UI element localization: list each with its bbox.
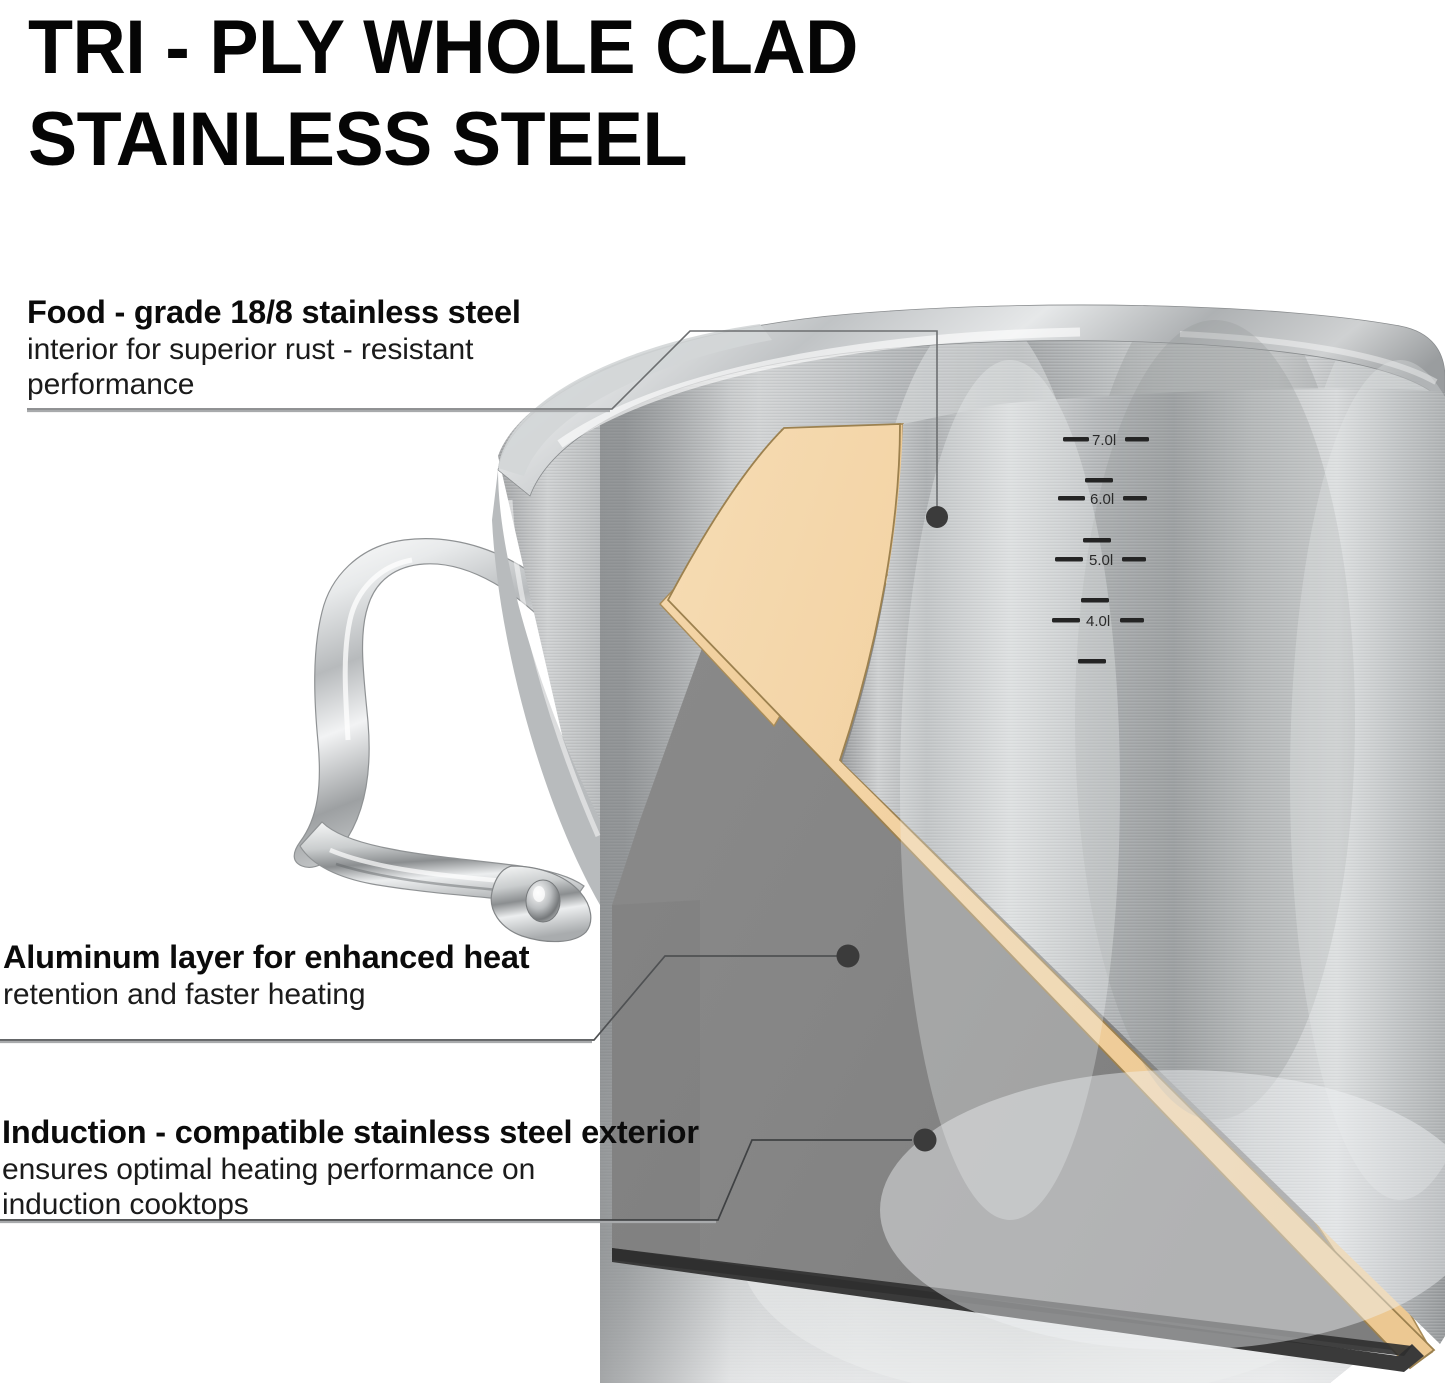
callout-food-grade-body-line1: interior for superior rust - resistant <box>27 332 521 367</box>
callout-induction-body-line1: ensures optimal heating performance on <box>2 1152 699 1187</box>
callout-induction-body: ensures optimal heating performance on i… <box>2 1152 699 1222</box>
callout-induction-body-line2: induction cooktops <box>2 1187 699 1222</box>
callout-induction-exterior: Induction - compatible stainless steel e… <box>2 1112 699 1222</box>
marking-label-4: 4.0l <box>1086 613 1110 630</box>
marking-half-55 <box>1083 538 1111 543</box>
callout-aluminum-body: retention and faster heating <box>3 977 529 1012</box>
callout-food-grade: Food - grade 18/8 stainless steel interi… <box>27 292 521 402</box>
product-infographic: TRI - PLY WHOLE CLAD STAINLESS STEEL <box>0 0 1445 1383</box>
callout-aluminum-body-line1: retention and faster heating <box>3 977 529 1012</box>
callout-aluminum-heading: Aluminum layer for enhanced heat <box>3 937 529 977</box>
pot-interior-surface <box>842 320 1445 1350</box>
marking-label-6: 6.0l <box>1090 491 1114 508</box>
marking-half-45 <box>1081 598 1109 603</box>
marking-half-35 <box>1078 659 1106 664</box>
callout-food-grade-body: interior for superior rust - resistant p… <box>27 332 521 402</box>
callout-induction-heading: Induction - compatible stainless steel e… <box>2 1112 699 1152</box>
marking-label-7: 7.0l <box>1092 432 1116 449</box>
marking-label-5: 5.0l <box>1089 552 1113 569</box>
callout-food-grade-heading: Food - grade 18/8 stainless steel <box>27 292 521 332</box>
callout-aluminum-layer: Aluminum layer for enhanced heat retenti… <box>3 937 529 1012</box>
callout-food-grade-body-line2: performance <box>27 367 521 402</box>
marking-half-65 <box>1085 478 1113 483</box>
